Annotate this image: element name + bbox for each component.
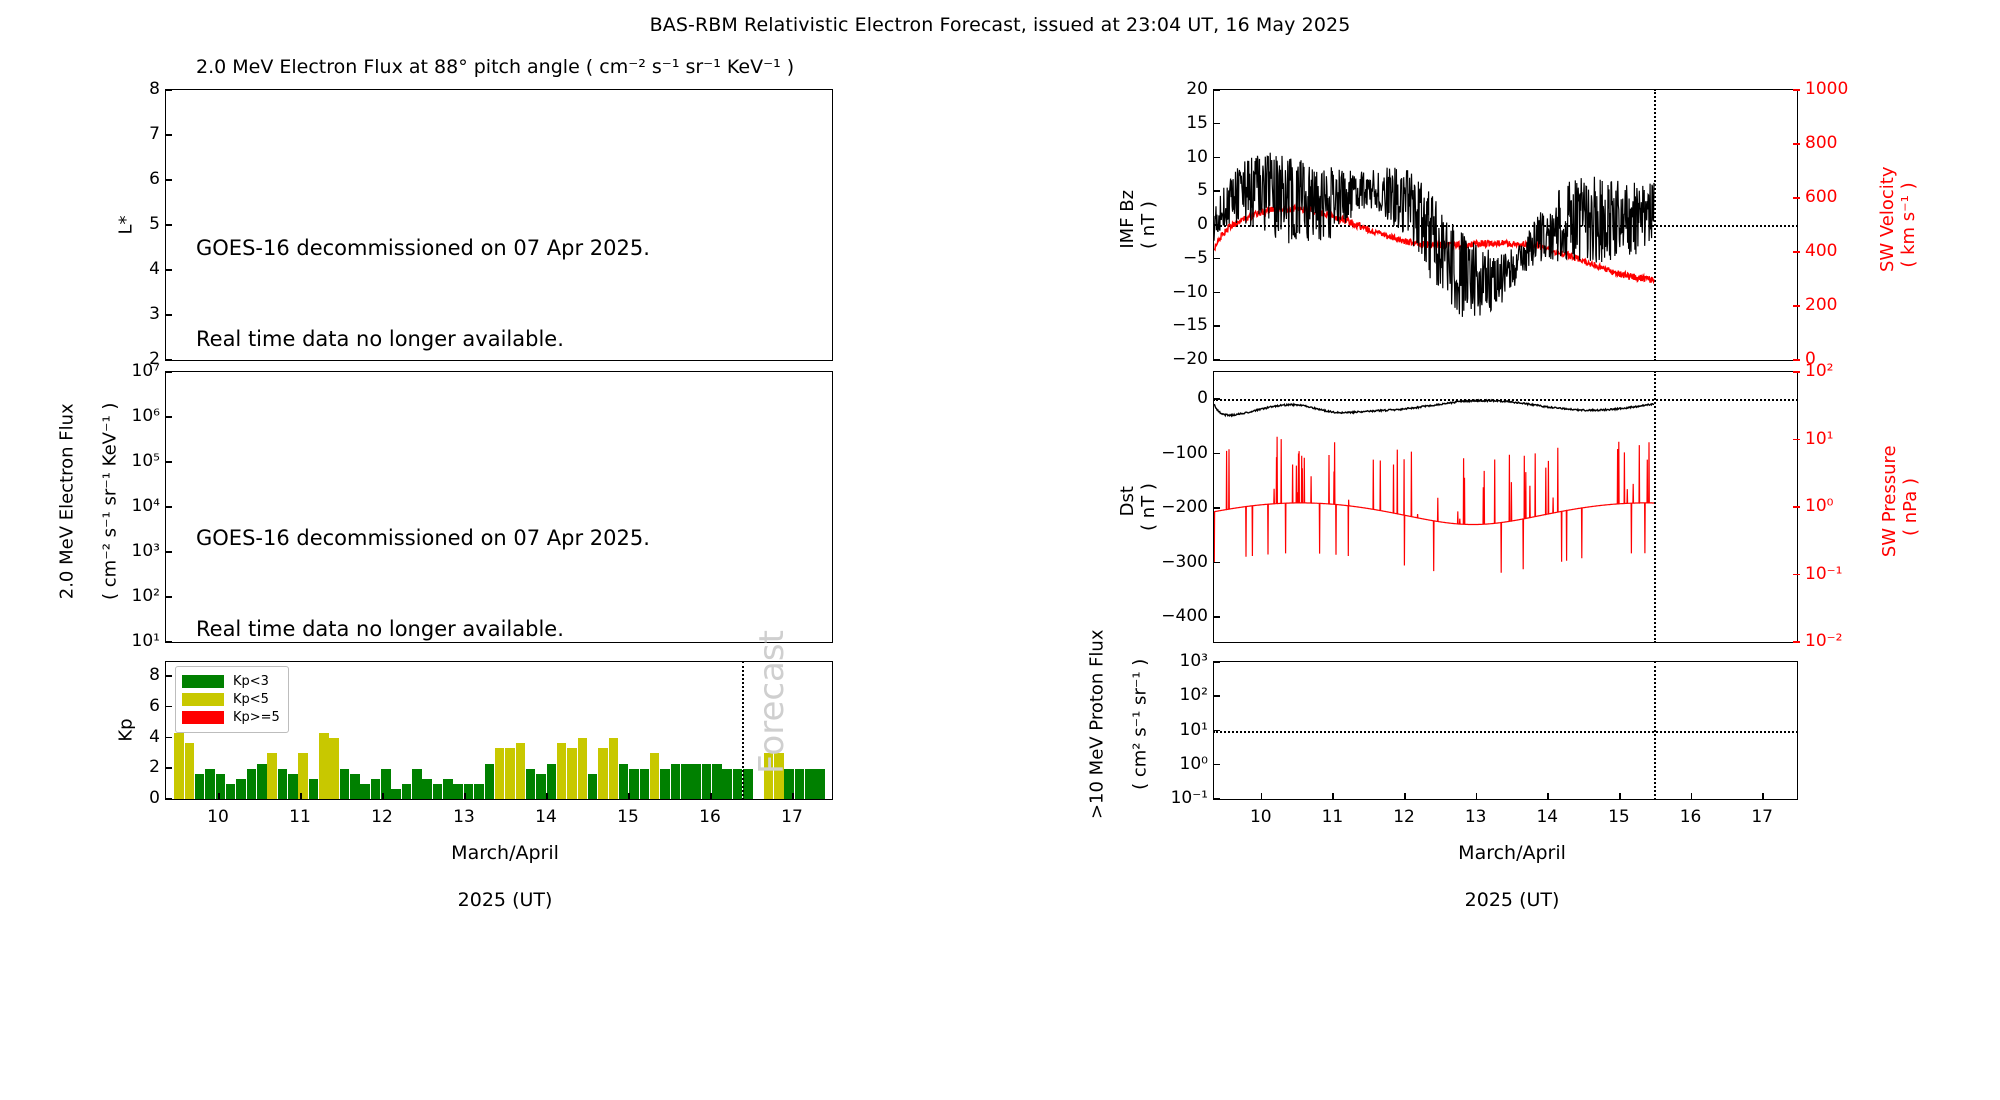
proton-axis-label: >10 MeV Proton Flux ( cm² s⁻¹ sr⁻¹ ) bbox=[1066, 630, 1151, 831]
imf-yticks-left-label-8: −20 bbox=[1172, 349, 1208, 369]
proton-x-axis-label-line-1: March/April bbox=[1458, 842, 1566, 864]
flux-message-line-2: Real time data no longer available. bbox=[196, 614, 650, 644]
proton-axis-label-line-1: >10 MeV Proton Flux bbox=[1087, 630, 1108, 820]
lstar-message-line-2: Real time data no longer available. bbox=[196, 324, 650, 354]
kp-bar bbox=[247, 769, 257, 799]
lstar-title-prefix: 2.0 MeV Electron Flux at 88 bbox=[196, 56, 458, 78]
kp-bar bbox=[722, 769, 732, 799]
lstar-yticks-tick-5 bbox=[165, 314, 172, 316]
kp-yticks-tick-3 bbox=[165, 767, 172, 769]
kp-bar bbox=[609, 738, 619, 799]
kp-legend-label-2: Kp>=5 bbox=[233, 710, 280, 725]
dst-yticks-left-label-4: −400 bbox=[1161, 606, 1208, 626]
flux-yticks-tick-2 bbox=[165, 461, 172, 463]
proton-xticks-label-6: 16 bbox=[1680, 807, 1702, 827]
kp-bar bbox=[329, 738, 339, 799]
imf-yticks-left-label-2: 10 bbox=[1186, 147, 1208, 167]
kp-bar bbox=[712, 764, 722, 799]
kp-yticks-label-1: 6 bbox=[149, 696, 160, 716]
proton-yticks-tick-3 bbox=[1213, 764, 1220, 766]
kp-xticks-label-0: 10 bbox=[207, 807, 229, 827]
proton-threshold-line bbox=[1213, 731, 1798, 733]
imf-axis-label-right-text: SW Velocity ( km s⁻¹ ) bbox=[1877, 166, 1919, 272]
lstar-panel-title: 2.0 MeV Electron Flux at 88° pitch angle… bbox=[196, 56, 794, 78]
kp-yticks-tick-4 bbox=[165, 798, 172, 800]
imf-yticks-right-label-3: 400 bbox=[1805, 241, 1837, 261]
kp-yticks-tick-0 bbox=[165, 675, 172, 677]
dst-yticks-left-label-1: −100 bbox=[1161, 443, 1208, 463]
imf-yticks-right-label-1: 800 bbox=[1805, 133, 1837, 153]
kp-legend: Kp<3 Kp<5 Kp>=5 bbox=[175, 666, 289, 733]
kp-bar bbox=[205, 769, 215, 799]
kp-yticks-label-3: 2 bbox=[149, 757, 160, 777]
kp-bar bbox=[733, 769, 743, 799]
flux-message-line-1: GOES-16 decommissioned on 07 Apr 2025. bbox=[196, 523, 650, 553]
imf-yticks-left-label-4: 0 bbox=[1197, 214, 1208, 234]
dst-timeseries-traces bbox=[1214, 372, 1797, 642]
dst-yticks-right-label-4: 10⁻² bbox=[1805, 631, 1842, 651]
proton-xticks-label-1: 11 bbox=[1322, 807, 1344, 827]
imf-yticks-left-label-1: 15 bbox=[1186, 113, 1208, 133]
kp-bar bbox=[278, 769, 288, 799]
kp-bar bbox=[660, 769, 670, 799]
proton-yticks-tick-1 bbox=[1213, 695, 1220, 697]
kp-xticks-tick-7 bbox=[792, 793, 794, 800]
kp-bar bbox=[433, 784, 443, 799]
flux-yticks-label-1: 10⁶ bbox=[132, 406, 160, 426]
kp-bar bbox=[505, 748, 515, 799]
flux-yticks-tick-1 bbox=[165, 416, 172, 418]
flux-yticks-label-5: 10² bbox=[132, 586, 160, 606]
kp-yticks-label-0: 8 bbox=[149, 665, 160, 685]
kp-bar bbox=[474, 784, 484, 799]
imf-yticks-left-label-0: 20 bbox=[1186, 79, 1208, 99]
lstar-yticks-label-3: 5 bbox=[149, 214, 160, 234]
kp-legend-label-1: Kp<5 bbox=[233, 692, 269, 707]
proton-xticks-label-7: 17 bbox=[1751, 807, 1773, 827]
proton-yticks-label-0: 10³ bbox=[1180, 651, 1208, 671]
kp-bar bbox=[516, 743, 526, 799]
proton-xticks-tick-1 bbox=[1332, 793, 1334, 800]
dst-axis-label-left: Dst ( nT ) bbox=[1096, 483, 1160, 531]
kp-xticks-tick-5 bbox=[628, 793, 630, 800]
kp-bar bbox=[350, 774, 360, 799]
kp-bar bbox=[640, 769, 650, 799]
imf-yticks-left-label-6: −10 bbox=[1172, 282, 1208, 302]
kp-bar bbox=[547, 764, 557, 799]
kp-xticks-tick-1 bbox=[300, 793, 302, 800]
flux-axis-label-line-1: 2.0 MeV Electron Flux bbox=[57, 403, 78, 599]
proton-yticks-label-4: 10⁻¹ bbox=[1171, 788, 1208, 808]
proton-x-axis-label-line-2: 2025 (UT) bbox=[1465, 889, 1560, 911]
kp-bar bbox=[598, 748, 608, 799]
lstar-yticks-label-1: 7 bbox=[149, 124, 160, 144]
lstar-yticks-label-0: 8 bbox=[149, 79, 160, 99]
flux-yticks-label-4: 10³ bbox=[132, 541, 160, 561]
imf-yticks-left-label-5: −5 bbox=[1183, 248, 1208, 268]
kp-bar bbox=[226, 784, 236, 799]
flux-yticks-label-2: 10⁵ bbox=[132, 451, 160, 471]
kp-bar bbox=[288, 774, 298, 799]
proton-xticks-label-5: 15 bbox=[1608, 807, 1630, 827]
kp-bar bbox=[691, 764, 701, 799]
kp-bar bbox=[681, 764, 691, 799]
flux-axis-label: 2.0 MeV Electron Flux ( cm⁻² s⁻¹ sr⁻¹ Ke… bbox=[36, 403, 121, 612]
flux-yticks-label-0: 10⁷ bbox=[132, 361, 160, 381]
kp-xticks-label-5: 15 bbox=[617, 807, 639, 827]
kp-bar bbox=[495, 748, 505, 799]
lstar-yticks-tick-2 bbox=[165, 179, 172, 181]
kp-bar bbox=[567, 748, 577, 799]
kp-x-axis-label: March/April 2025 (UT) bbox=[439, 818, 559, 913]
kp-bar bbox=[629, 769, 639, 799]
proton-xticks-label-2: 12 bbox=[1393, 807, 1415, 827]
proton-axis-label-line-2: ( cm² s⁻¹ sr⁻¹ ) bbox=[1129, 659, 1150, 790]
kp-bar bbox=[319, 733, 329, 799]
kp-bar bbox=[185, 743, 195, 799]
kp-bar bbox=[371, 779, 381, 799]
kp-xticks-tick-4 bbox=[546, 793, 548, 800]
kp-bar bbox=[267, 753, 277, 799]
flux-no-data-message: GOES-16 decommissioned on 07 Apr 2025. R… bbox=[196, 462, 650, 675]
proton-xticks-tick-2 bbox=[1404, 793, 1406, 800]
degree-symbol: ° bbox=[458, 56, 468, 78]
kp-bar bbox=[391, 789, 401, 799]
proton-xticks-tick-3 bbox=[1476, 793, 1478, 800]
kp-bar bbox=[526, 769, 536, 799]
imf-timeseries-traces bbox=[1214, 90, 1797, 360]
kp-xticks-tick-6 bbox=[710, 793, 712, 800]
kp-bar bbox=[443, 779, 453, 799]
dst-axis-label-left-text: Dst ( nT ) bbox=[1117, 483, 1159, 531]
flux-yticks-tick-0 bbox=[165, 371, 172, 373]
flux-yticks-tick-5 bbox=[165, 596, 172, 598]
dst-yticks-right-label-1: 10¹ bbox=[1805, 429, 1833, 449]
proton-yticks-label-2: 10¹ bbox=[1180, 720, 1208, 740]
dst-yticks-left-label-0: 0 bbox=[1197, 388, 1208, 408]
kp-bar bbox=[422, 779, 432, 799]
imf-yticks-right-label-4: 200 bbox=[1805, 295, 1837, 315]
kp-legend-swatch-yellow bbox=[182, 693, 224, 706]
kp-bar bbox=[195, 774, 205, 799]
kp-yticks-tick-1 bbox=[165, 706, 172, 708]
kp-yticks-tick-2 bbox=[165, 737, 172, 739]
dst-yticks-right-label-2: 10⁰ bbox=[1805, 496, 1833, 516]
kp-yticks-label-2: 4 bbox=[149, 727, 160, 747]
kp-bar bbox=[453, 784, 463, 799]
kp-bar bbox=[815, 769, 825, 799]
lstar-yticks-tick-3 bbox=[165, 224, 172, 226]
imf-axis-label-left-text: IMF Bz ( nT ) bbox=[1117, 190, 1159, 249]
kp-bar bbox=[588, 774, 598, 799]
kp-legend-item-2: Kp>=5 bbox=[182, 709, 280, 726]
flux-yticks-tick-4 bbox=[165, 551, 172, 553]
kp-bar bbox=[578, 738, 588, 799]
imf-yticks-left-label-3: 5 bbox=[1197, 180, 1208, 200]
lstar-yticks-label-4: 4 bbox=[149, 259, 160, 279]
kp-bar bbox=[360, 784, 370, 799]
kp-xticks-label-6: 16 bbox=[699, 807, 721, 827]
kp-legend-item-1: Kp<5 bbox=[182, 691, 280, 708]
kp-bar bbox=[402, 784, 412, 799]
proton-xticks-label-0: 10 bbox=[1250, 807, 1272, 827]
kp-xticks-tick-2 bbox=[382, 793, 384, 800]
imf-yticks-left-label-7: −15 bbox=[1172, 315, 1208, 335]
kp-bar bbox=[412, 769, 422, 799]
kp-xticks-tick-0 bbox=[218, 793, 220, 800]
lstar-yticks-tick-0 bbox=[165, 89, 172, 91]
flux-yticks-label-3: 10⁴ bbox=[132, 496, 160, 516]
imf-yticks-right-label-2: 600 bbox=[1805, 187, 1837, 207]
proton-yticks-label-1: 10² bbox=[1180, 685, 1208, 705]
kp-forecast-watermark: Forecast bbox=[752, 630, 792, 774]
lstar-no-data-message: GOES-16 decommissioned on 07 Apr 2025. R… bbox=[196, 172, 650, 385]
lstar-yticks-label-5: 3 bbox=[149, 304, 160, 324]
figure-title: BAS-RBM Relativistic Electron Forecast, … bbox=[0, 14, 2000, 36]
kp-legend-item-0: Kp<3 bbox=[182, 673, 280, 690]
lstar-message-line-1: GOES-16 decommissioned on 07 Apr 2025. bbox=[196, 233, 650, 263]
kp-legend-label-0: Kp<3 bbox=[233, 674, 269, 689]
proton-xticks-tick-4 bbox=[1547, 793, 1549, 800]
kp-bar bbox=[536, 774, 546, 799]
proton-xticks-tick-5 bbox=[1619, 793, 1621, 800]
kp-bar bbox=[650, 753, 660, 799]
kp-x-axis-label-line-1: March/April bbox=[451, 842, 559, 864]
flux-yticks-tick-3 bbox=[165, 506, 172, 508]
kp-bar bbox=[309, 779, 319, 799]
proton-xticks-tick-7 bbox=[1762, 793, 1764, 800]
kp-axis-label: Kp bbox=[115, 718, 136, 741]
lstar-yticks-label-2: 6 bbox=[149, 169, 160, 189]
lstar-yticks-tick-6 bbox=[165, 359, 172, 361]
kp-legend-swatch-red bbox=[182, 711, 224, 724]
proton-xticks-tick-6 bbox=[1691, 793, 1693, 800]
proton-x-axis-label: March/April 2025 (UT) bbox=[1446, 818, 1566, 913]
kp-bar bbox=[236, 779, 246, 799]
flux-yticks-tick-6 bbox=[165, 641, 172, 643]
kp-bar bbox=[340, 769, 350, 799]
proton-yticks-tick-0 bbox=[1213, 661, 1220, 663]
lstar-yticks-tick-4 bbox=[165, 269, 172, 271]
lstar-axis-label: L* bbox=[115, 215, 136, 234]
lstar-yticks-tick-1 bbox=[165, 134, 172, 136]
kp-bar bbox=[174, 733, 184, 799]
kp-forecast-divider bbox=[742, 661, 744, 800]
proton-forecast-divider bbox=[1654, 661, 1656, 800]
kp-x-axis-label-line-2: 2025 (UT) bbox=[458, 889, 553, 911]
imf-yticks-right-label-0: 1000 bbox=[1805, 79, 1848, 99]
proton-yticks-tick-4 bbox=[1213, 798, 1220, 800]
dst-yticks-right-label-3: 10⁻¹ bbox=[1805, 564, 1842, 584]
flux-yticks-label-6: 10¹ bbox=[132, 631, 160, 651]
imf-axis-label-right: SW Velocity ( km s⁻¹ ) bbox=[1856, 166, 1920, 283]
kp-bar bbox=[671, 764, 681, 799]
dst-yticks-left-label-2: −200 bbox=[1161, 497, 1208, 517]
dst-axis-label-right: SW Pressure ( nPa ) bbox=[1858, 445, 1922, 568]
dst-yticks-right-label-0: 10² bbox=[1805, 361, 1833, 381]
kp-bar bbox=[557, 743, 567, 799]
lstar-title-units: cm⁻² s⁻¹ sr⁻¹ KeV⁻¹ bbox=[599, 56, 780, 78]
proton-yticks-label-3: 10⁰ bbox=[1180, 754, 1208, 774]
dst-yticks-left-label-3: −300 bbox=[1161, 552, 1208, 572]
kp-bar bbox=[257, 764, 267, 799]
kp-bar bbox=[795, 769, 805, 799]
flux-axis-label-line-2: ( cm⁻² s⁻¹ sr⁻¹ KeV⁻¹ ) bbox=[99, 403, 120, 600]
imf-axis-label-left: IMF Bz ( nT ) bbox=[1096, 190, 1160, 260]
kp-yticks-label-4: 0 bbox=[149, 788, 160, 808]
kp-xticks-label-2: 12 bbox=[371, 807, 393, 827]
kp-bar bbox=[805, 769, 815, 799]
kp-xticks-label-1: 11 bbox=[289, 807, 311, 827]
proton-xticks-tick-0 bbox=[1261, 793, 1263, 800]
kp-xticks-label-7: 17 bbox=[781, 807, 803, 827]
kp-legend-swatch-green bbox=[182, 675, 224, 688]
dst-axis-label-right-text: SW Pressure ( nPa ) bbox=[1879, 445, 1921, 557]
kp-xticks-tick-3 bbox=[464, 793, 466, 800]
kp-bar bbox=[485, 764, 495, 799]
